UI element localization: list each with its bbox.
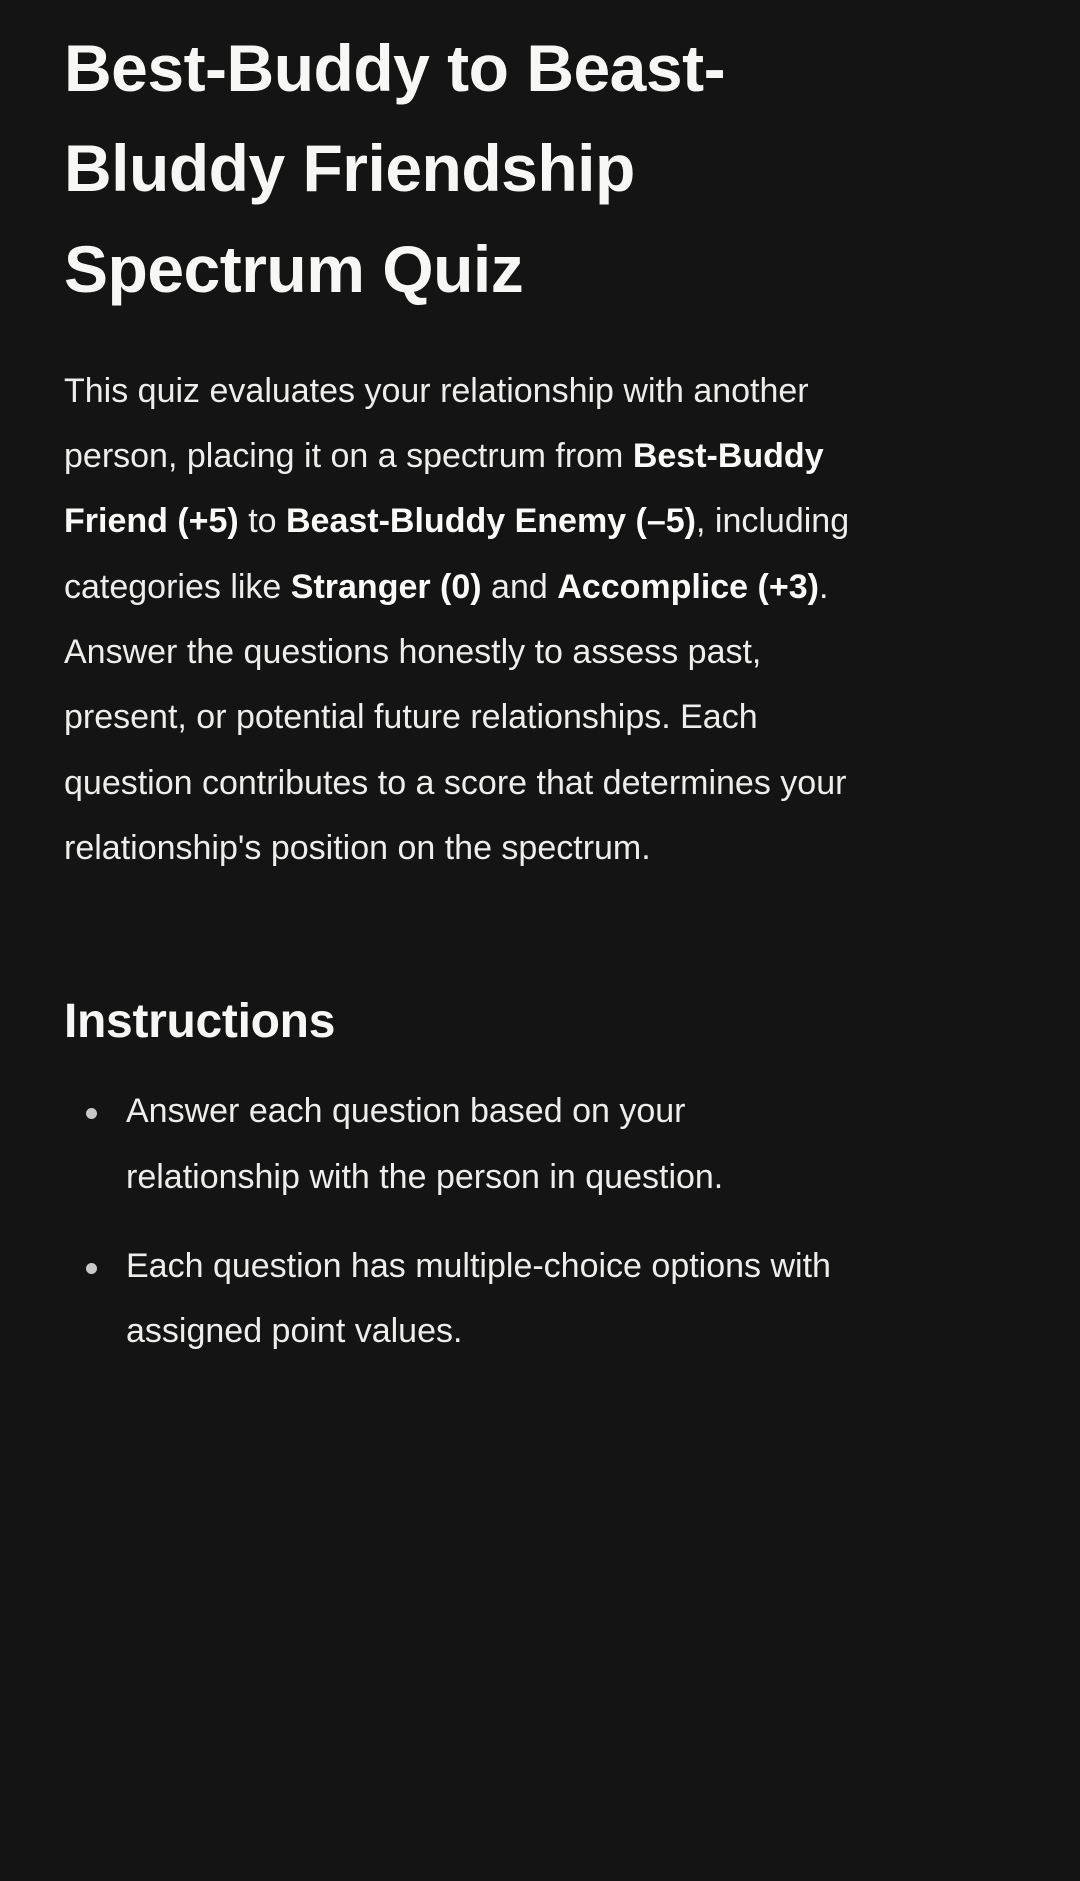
quiz-description: This quiz evaluates your relationship wi… xyxy=(64,359,854,881)
intro-text-part-4: and xyxy=(482,568,558,606)
list-item-label: Answer each question based on your relat… xyxy=(126,1092,723,1195)
intro-text-part-2: to xyxy=(239,502,286,540)
term-accomplice: Accomplice (+3) xyxy=(557,568,819,606)
page-title: Best-Buddy to Beast-Bluddy Friendship Sp… xyxy=(64,0,824,319)
list-item: Each question has multiple-choice option… xyxy=(64,1234,864,1365)
term-beast-bluddy-enemy: Beast-Bluddy Enemy (–5) xyxy=(286,502,696,540)
term-stranger: Stranger (0) xyxy=(291,568,482,606)
bullet-icon xyxy=(86,1263,97,1274)
intro-text-part-5: . Answer the questions honestly to asses… xyxy=(64,568,846,867)
quiz-page: Best-Buddy to Beast-Bluddy Friendship Sp… xyxy=(0,0,1080,1881)
bullet-icon xyxy=(86,1108,97,1119)
instructions-list: Answer each question based on your relat… xyxy=(64,1079,1016,1364)
list-item-label: Each question has multiple-choice option… xyxy=(126,1247,831,1350)
list-item: Answer each question based on your relat… xyxy=(64,1079,864,1210)
instructions-heading: Instructions xyxy=(64,991,1016,1053)
